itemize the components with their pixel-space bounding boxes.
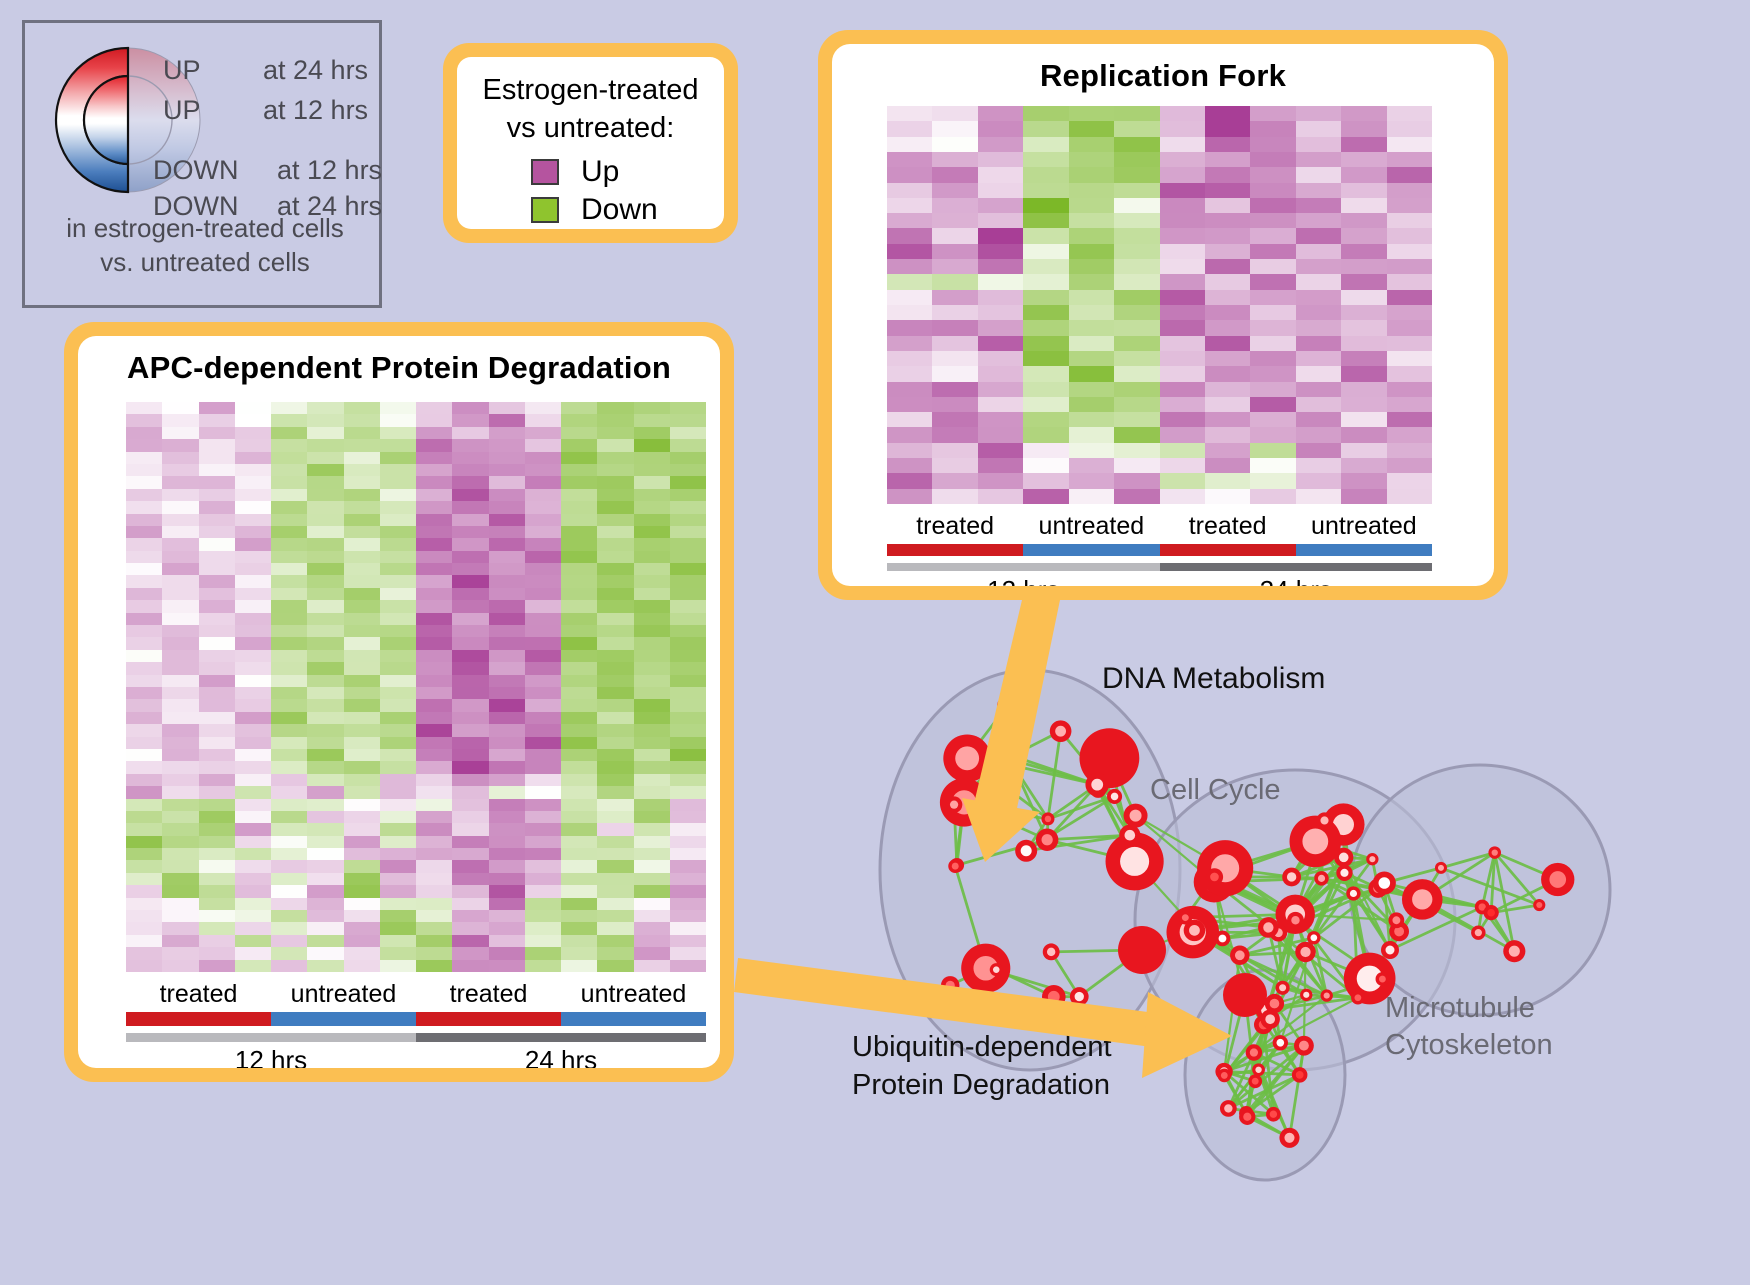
pathway-network-diagram: DNA Metabolism Cell Cycle Microtubule Cy… — [790, 620, 1750, 1280]
ubiquitin-line1: Ubiquitin-dependent — [852, 1028, 1112, 1066]
replication-fork-group-labels: treated untreated treated untreated — [887, 512, 1432, 541]
time-label: 12 hrs — [126, 1045, 416, 1068]
bar-segment — [416, 1012, 561, 1026]
key-legend-title-line1: Estrogen-treated — [457, 71, 724, 109]
apc-time-bar — [126, 1033, 706, 1042]
network-node[interactable] — [1223, 973, 1267, 1017]
bar-segment — [126, 1012, 271, 1026]
time-label: 24 hrs — [416, 1045, 706, 1068]
group-label: untreated — [561, 980, 706, 1009]
wheel-row-0-time: at 24 hrs — [263, 55, 368, 86]
replication-fork-time-labels: 12 hrs 24 hrs — [887, 575, 1432, 586]
microtubule-line2: Cytoskeleton — [1385, 1027, 1553, 1064]
bar-segment — [1160, 544, 1296, 556]
apc-degradation-heatmap — [126, 402, 706, 972]
colorwheel-legend-box: UP at 24 hrs UP at 12 hrs DOWN at 12 hrs… — [22, 20, 382, 308]
wheel-row-1-label: UP — [163, 95, 201, 126]
up-swatch-icon — [531, 159, 559, 185]
group-label: treated — [887, 512, 1023, 541]
group-label: untreated — [1296, 512, 1432, 541]
down-swatch-icon — [531, 197, 559, 223]
replication-fork-title: Replication Fork — [832, 58, 1494, 94]
bar-segment — [126, 1033, 416, 1042]
network-label-microtubule-cytoskeleton: Microtubule Cytoskeleton — [1385, 990, 1553, 1064]
apc-group-labels: treated untreated treated untreated — [126, 980, 706, 1009]
wheel-row-2-time: at 12 hrs — [277, 155, 382, 186]
apc-time-labels: 12 hrs 24 hrs — [126, 1045, 706, 1068]
apc-group-bar — [126, 1012, 706, 1026]
wheel-row-2-label: DOWN — [153, 155, 238, 186]
wheel-row-0-label: UP — [163, 55, 201, 86]
bar-segment — [271, 1012, 416, 1026]
key-legend-item-down: Down — [457, 191, 724, 229]
replication-fork-group-bar — [887, 544, 1432, 556]
network-label-ubiquitin-degradation: Ubiquitin-dependent Protein Degradation — [852, 1028, 1112, 1104]
key-legend-panel: Estrogen-treated vs untreated: Up Down — [443, 43, 738, 243]
time-label: 12 hrs — [887, 575, 1160, 586]
group-label: untreated — [271, 980, 416, 1009]
replication-fork-heatmap — [887, 106, 1432, 504]
apc-degradation-panel: APC-dependent Protein Degradation treate… — [64, 322, 734, 1082]
network-node[interactable] — [1118, 926, 1166, 974]
bar-segment — [561, 1012, 706, 1026]
key-legend-title: Estrogen-treated vs untreated: — [457, 71, 724, 147]
colorwheel-caption-line2: vs. untreated cells — [25, 245, 385, 279]
bar-segment — [1296, 544, 1432, 556]
key-legend-items: Up Down — [457, 153, 724, 229]
group-label: untreated — [1023, 512, 1159, 541]
ubiquitin-line2: Protein Degradation — [852, 1066, 1112, 1104]
bar-segment — [887, 544, 1023, 556]
bar-segment — [416, 1033, 706, 1042]
group-label: treated — [126, 980, 271, 1009]
wheel-row-1-time: at 12 hrs — [263, 95, 368, 126]
key-legend-item-up: Up — [457, 153, 724, 191]
microtubule-line1: Microtubule — [1385, 990, 1553, 1027]
bar-segment — [887, 563, 1160, 571]
time-label: 24 hrs — [1160, 575, 1433, 586]
key-legend-up-label: Up — [581, 155, 619, 189]
group-label: treated — [1160, 512, 1296, 541]
network-label-cell-cycle: Cell Cycle — [1150, 774, 1281, 807]
bar-segment — [1023, 544, 1159, 556]
bar-segment — [1160, 563, 1433, 571]
group-label: treated — [416, 980, 561, 1009]
network-label-dna-metabolism: DNA Metabolism — [1102, 662, 1325, 696]
replication-fork-time-bar — [887, 563, 1432, 571]
colorwheel-caption-line1: in estrogen-treated cells — [25, 211, 385, 245]
colorwheel-caption: in estrogen-treated cells vs. untreated … — [25, 211, 385, 279]
key-legend-down-label: Down — [581, 193, 658, 227]
apc-degradation-title: APC-dependent Protein Degradation — [78, 350, 720, 386]
key-legend-title-line2: vs untreated: — [457, 109, 724, 147]
replication-fork-panel: Replication Fork treated untreated treat… — [818, 30, 1508, 600]
